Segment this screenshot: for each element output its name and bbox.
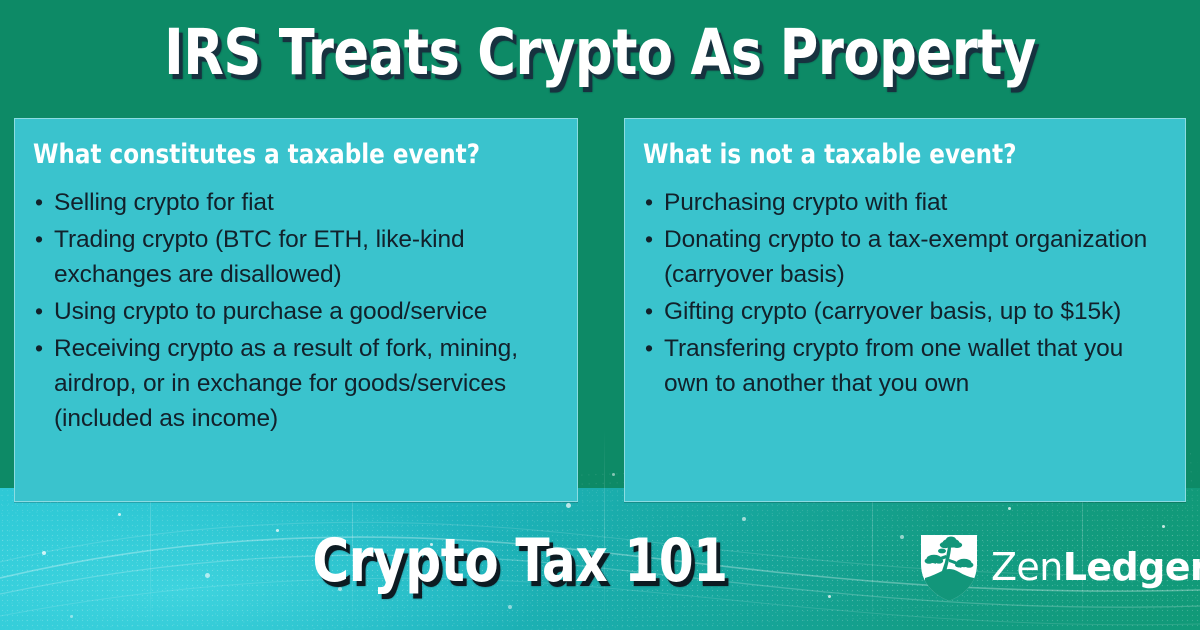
list-item: Donating crypto to a tax-exempt organiza…	[641, 222, 1169, 292]
taxable-events-list: Selling crypto for fiat Trading crypto (…	[31, 185, 561, 436]
taxable-events-heading: What constitutes a taxable event?	[33, 139, 535, 171]
list-item: Purchasing crypto with fiat	[641, 185, 1169, 220]
taxable-events-panel: What constitutes a taxable event? Sellin…	[14, 118, 578, 502]
particle-dot	[508, 605, 512, 609]
particle-dot	[42, 551, 46, 555]
particle-dot	[118, 513, 121, 516]
list-item: Using crypto to purchase a good/service	[31, 294, 561, 329]
brand-name-light: Zen	[991, 545, 1063, 589]
non-taxable-events-heading: What is not a taxable event?	[643, 139, 1143, 171]
particle-dot	[828, 595, 831, 598]
non-taxable-events-panel: What is not a taxable event? Purchasing …	[624, 118, 1186, 502]
brand-name-bold: Ledger	[1063, 545, 1200, 589]
list-item: Transfering crypto from one wallet that …	[641, 331, 1169, 401]
particle-dot	[1162, 525, 1165, 528]
shield-bonsai-icon	[918, 531, 980, 603]
particle-dot	[742, 517, 746, 521]
list-item: Gifting crypto (carryover basis, up to $…	[641, 294, 1169, 329]
non-taxable-events-list: Purchasing crypto with fiat Donating cry…	[641, 185, 1169, 401]
particle-dot	[70, 615, 73, 618]
page-title: IRS Treats Crypto As Property	[42, 18, 1158, 88]
particle-dot	[612, 473, 615, 476]
zenledger-wordmark: ZenLedger	[991, 547, 1200, 587]
zenledger-logo[interactable]: ZenLedger	[918, 529, 1186, 605]
particle-dot	[900, 535, 904, 539]
footer-title: Crypto Tax 101	[176, 528, 864, 594]
particle-dot	[1008, 507, 1011, 510]
list-item: Trading crypto (BTC for ETH, like-kind e…	[31, 222, 561, 292]
particle-dot	[566, 503, 571, 508]
list-item: Selling crypto for fiat	[31, 185, 561, 220]
list-item: Receiving crypto as a result of fork, mi…	[31, 331, 561, 436]
